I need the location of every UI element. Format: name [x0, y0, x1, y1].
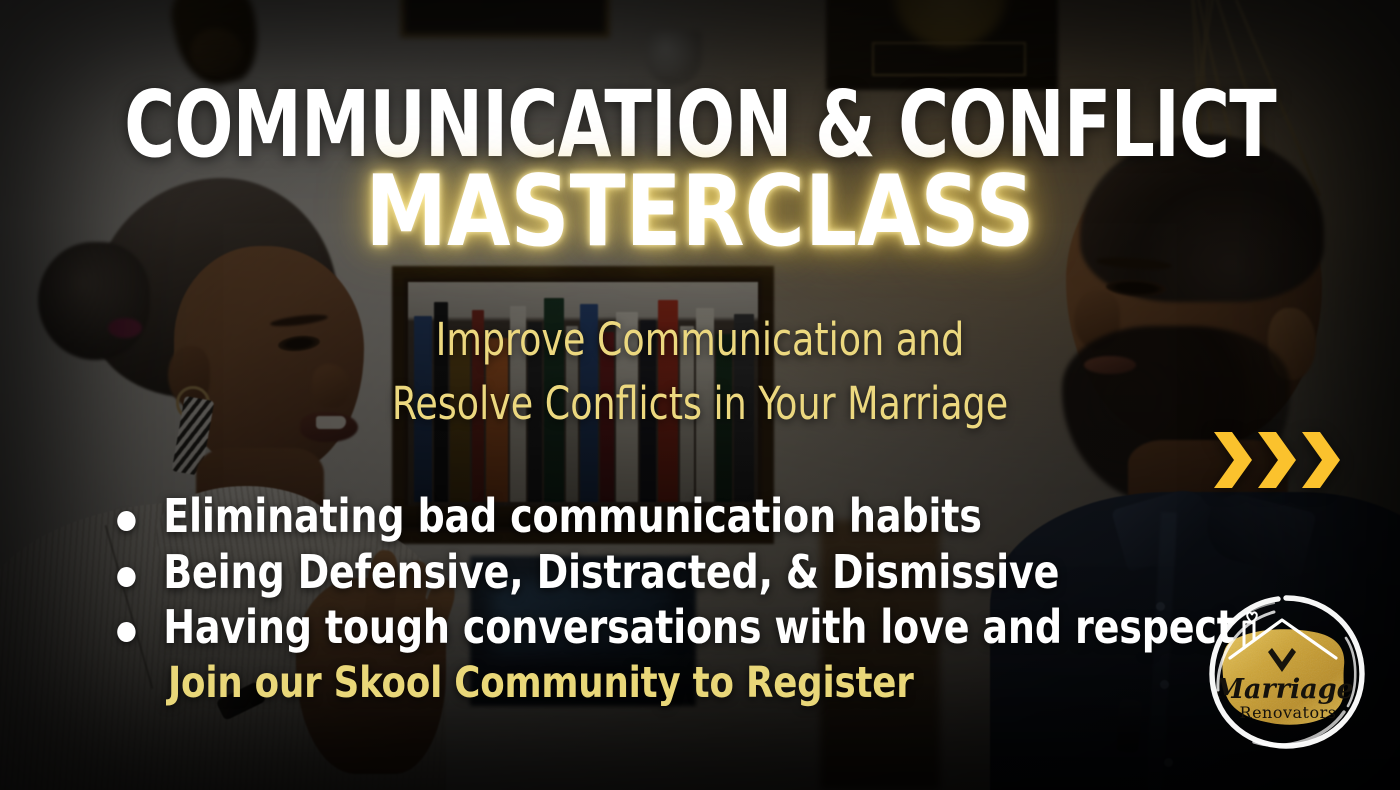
bullet-item: Having tough conversations with love and…: [108, 600, 1083, 656]
chevron-right-icon: [1258, 432, 1296, 488]
headline-line-2-masterclass: MASTERCLASS: [49, 168, 1351, 256]
overlay-content: COMMUNICATION & CONFLICT MASTERCLASS Imp…: [0, 0, 1400, 790]
chevron-arrow-group: [1214, 432, 1340, 488]
tagline-line-2: Resolve Conflicts in Your Marriage: [70, 372, 1330, 436]
bullet-item: Eliminating bad communication habits: [108, 489, 1083, 545]
call-to-action-text[interactable]: Join our Skool Community to Register: [168, 662, 914, 705]
logo-brand-line-1: Marriage: [1213, 674, 1354, 705]
thumbnail-canvas: COMMUNICATION & CONFLICT MASTERCLASS Imp…: [0, 0, 1400, 790]
bullet-item: Being Defensive, Distracted, & Dismissiv…: [108, 545, 1083, 601]
chevron-right-icon: [1302, 432, 1340, 488]
marriage-renovators-logo-icon: Marriage Renovators: [1196, 586, 1376, 758]
tagline: Improve Communication and Resolve Confli…: [70, 308, 1330, 436]
brand-logo: Marriage Renovators: [1196, 586, 1376, 758]
tagline-line-1: Improve Communication and: [70, 308, 1330, 372]
chevron-right-icon: [1214, 432, 1252, 488]
benefit-bullet-list: Eliminating bad communication habits Bei…: [108, 489, 1168, 656]
logo-brand-line-2: Renovators: [1240, 703, 1337, 722]
